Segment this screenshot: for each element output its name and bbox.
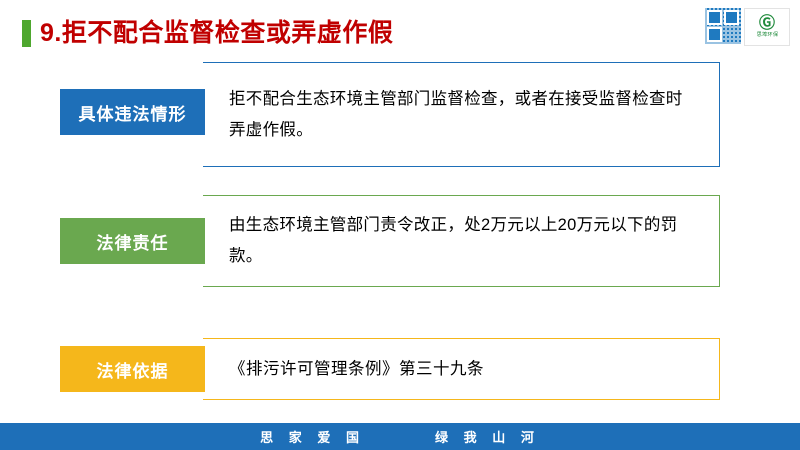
row-panel-liability: 由生态环境主管部门责令改正，处2万元以上20万元以下的罚款。 xyxy=(203,195,720,287)
info-row-basis: 法律依据 《排污许可管理条例》第三十九条 xyxy=(60,338,720,400)
row-tag-basis: 法律依据 xyxy=(60,346,205,392)
info-row-liability: 法律责任 由生态环境主管部门责令改正，处2万元以上20万元以下的罚款。 xyxy=(60,195,720,287)
row-tag-liability: 法律责任 xyxy=(60,218,205,264)
qr-code-icon[interactable] xyxy=(705,8,741,44)
brand-logo: Ⓖ 思埠环保 xyxy=(744,8,790,46)
footer-bar: 思 家 爱 国 绿 我 山 河 xyxy=(0,423,800,450)
row-content-basis: 《排污许可管理条例》第三十九条 xyxy=(229,354,484,385)
row-panel-violation: 拒不配合生态环境主管部门监督检查，或者在接受监督检查时弄虚作假。 xyxy=(203,62,720,167)
page-title: 9.拒不配合监督检查或弄虚作假 xyxy=(22,16,393,50)
footer-slogan-right: 绿 我 山 河 xyxy=(435,427,540,446)
logo-block: Ⓖ 思埠环保 xyxy=(705,8,790,46)
title-bullet-icon xyxy=(22,20,31,47)
row-content-liability: 由生态环境主管部门责令改正，处2万元以上20万元以下的罚款。 xyxy=(229,210,697,271)
footer-slogan-left: 思 家 爱 国 xyxy=(260,427,365,446)
brand-mark-icon: Ⓖ xyxy=(759,16,775,32)
row-panel-basis: 《排污许可管理条例》第三十九条 xyxy=(203,338,720,400)
title-text: 9.拒不配合监督检查或弄虚作假 xyxy=(40,21,393,46)
info-row-violation: 具体违法情形 拒不配合生态环境主管部门监督检查，或者在接受监督检查时弄虚作假。 xyxy=(60,62,720,167)
brand-name: 思埠环保 xyxy=(756,33,778,38)
row-content-violation: 拒不配合生态环境主管部门监督检查，或者在接受监督检查时弄虚作假。 xyxy=(229,84,697,145)
row-tag-violation: 具体违法情形 xyxy=(60,89,205,135)
